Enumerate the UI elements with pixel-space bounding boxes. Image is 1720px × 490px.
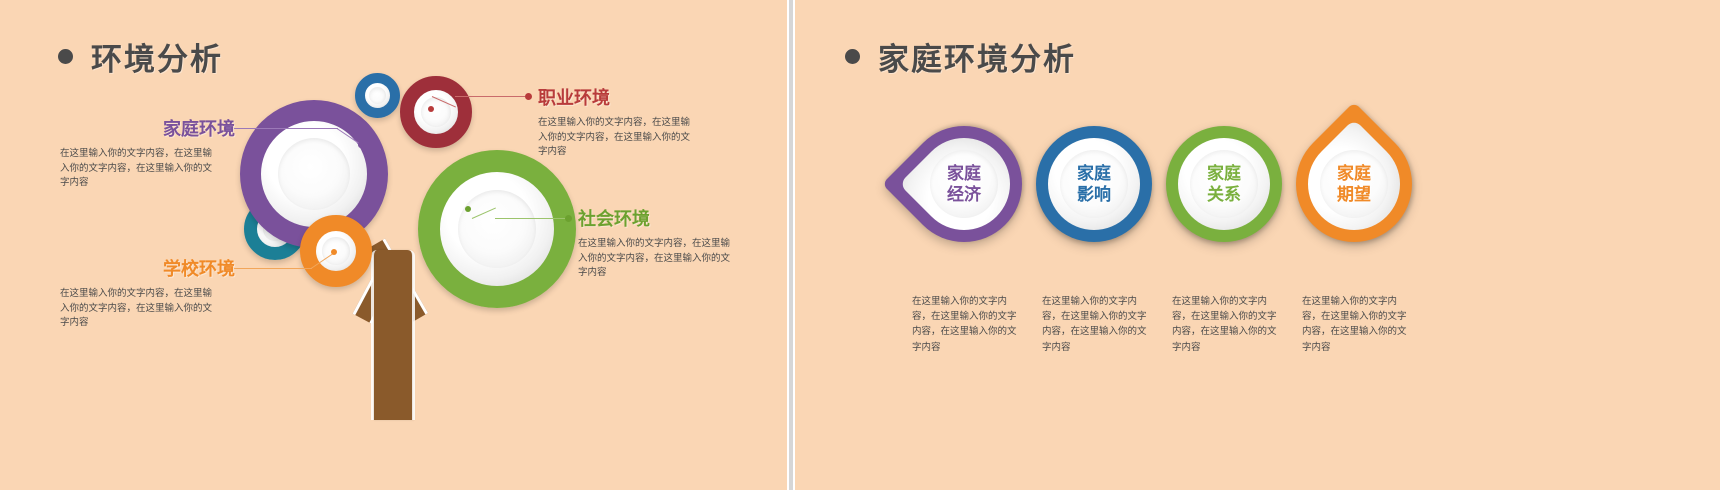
drop-shape-orange[interactable]: 家庭 期望 <box>1296 126 1412 242</box>
callout-body-career: 在这里输入你的文字内容，在这里输入你的文字内容，在这里输入你的文字内容 <box>538 116 693 160</box>
callout-title-family: 家庭环境 <box>60 115 235 141</box>
page-title: 家庭环境分析 <box>845 34 1076 79</box>
callout-career-environment[interactable]: 职业环境 在这里输入你的文字内容，在这里输入你的文字内容，在这里输入你的文字内容 <box>538 84 718 160</box>
connector-line-family <box>234 128 338 129</box>
callout-title-career: 职业环境 <box>538 84 718 110</box>
drop-body-text: 在这里输入你的文字内容，在这里输入你的文字内容，在这里输入你的文字内容 <box>1172 294 1280 355</box>
drop-label: 家庭 关系 <box>1207 163 1241 206</box>
drop-shape-green[interactable]: 家庭 关系 <box>1166 126 1282 242</box>
drop-label-line1: 家庭 <box>1337 164 1371 183</box>
slide-divider <box>787 0 795 490</box>
presentation-canvas: 环境分析 家庭环境 在这里输入你的文字内容，在这里输 <box>0 0 1720 490</box>
drop-shape-blue[interactable]: 家庭 影响 <box>1036 126 1152 242</box>
connector-dot-social <box>565 215 572 222</box>
drop-label-line2: 关系 <box>1207 185 1241 204</box>
callout-social-environment[interactable]: 社会环境 在这里输入你的文字内容，在这里输入你的文字内容，在这里输入你的文字内容 <box>578 205 758 281</box>
drop-label-line1: 家庭 <box>1207 164 1241 183</box>
drop-label: 家庭 经济 <box>947 163 981 206</box>
connector-anchor-school <box>331 249 337 255</box>
drop-item-family-influence[interactable]: 家庭 影响 在这里输入你的文字内容，在这里输入你的文字内容，在这里输入你的文字内… <box>1036 126 1152 242</box>
drop-item-family-relations[interactable]: 家庭 关系 在这里输入你的文字内容，在这里输入你的文字内容，在这里输入你的文字内… <box>1166 126 1282 242</box>
bullet-icon <box>845 49 860 64</box>
drop-body-text: 在这里输入你的文字内容，在这里输入你的文字内容，在这里输入你的文字内容 <box>1302 294 1410 355</box>
page-title-text: 环境分析 <box>91 34 223 79</box>
drop-item-family-expectation[interactable]: 家庭 期望 在这里输入你的文字内容，在这里输入你的文字内容，在这里输入你的文字内… <box>1296 126 1412 242</box>
drop-label-line1: 家庭 <box>1077 164 1111 183</box>
bullet-icon <box>58 49 73 64</box>
connector-line-career <box>455 96 525 97</box>
drop-label-line2: 经济 <box>947 185 981 204</box>
drop-body-text: 在这里输入你的文字内容，在这里输入你的文字内容，在这里输入你的文字内容 <box>1042 294 1150 355</box>
connector-anchor-career <box>428 106 434 112</box>
ring-dimple <box>369 87 386 104</box>
drop-label-line2: 影响 <box>1077 185 1111 204</box>
connector-line-school <box>234 268 312 269</box>
drop-item-family-economy[interactable]: 家庭 经济 在这里输入你的文字内容，在这里输入你的文字内容，在这里输入你的文字内… <box>906 126 1022 242</box>
callout-body-family: 在这里输入你的文字内容，在这里输入你的文字内容，在这里输入你的文字内容 <box>60 147 215 191</box>
slide-family-environment-analysis[interactable]: 家庭环境分析 <box>795 0 1720 490</box>
connector-line-social <box>495 218 565 219</box>
green-ring[interactable] <box>418 150 576 308</box>
blue-ring <box>355 73 400 118</box>
ring-dimple <box>458 190 536 268</box>
callout-title-school: 学校环境 <box>60 255 235 281</box>
drop-body-text: 在这里输入你的文字内容，在这里输入你的文字内容，在这里输入你的文字内容 <box>912 294 1020 355</box>
drop-label-line2: 期望 <box>1337 185 1371 204</box>
callout-body-social: 在这里输入你的文字内容，在这里输入你的文字内容，在这里输入你的文字内容 <box>578 237 733 281</box>
callout-school-environment[interactable]: 学校环境 在这里输入你的文字内容，在这里输入你的文字内容，在这里输入你的文字内容 <box>60 255 235 331</box>
red-ring[interactable] <box>400 76 472 148</box>
drop-label: 家庭 期望 <box>1337 163 1371 206</box>
connector-anchor-social <box>465 206 471 212</box>
page-title: 环境分析 <box>58 34 223 79</box>
connector-anchor-family <box>358 142 364 148</box>
connector-dot-career <box>525 93 532 100</box>
drop-label: 家庭 影响 <box>1077 163 1111 206</box>
callout-title-social: 社会环境 <box>578 205 758 231</box>
drop-label-line1: 家庭 <box>947 164 981 183</box>
page-title-text: 家庭环境分析 <box>878 34 1076 79</box>
ring-dimple <box>278 138 350 210</box>
tree-trunk <box>373 250 413 420</box>
drop-shape-purple[interactable]: 家庭 经济 <box>906 126 1022 242</box>
slide-environment-analysis[interactable]: 环境分析 家庭环境 在这里输入你的文字内容，在这里输 <box>0 0 787 490</box>
callout-body-school: 在这里输入你的文字内容，在这里输入你的文字内容，在这里输入你的文字内容 <box>60 287 215 331</box>
callout-family-environment[interactable]: 家庭环境 在这里输入你的文字内容，在这里输入你的文字内容，在这里输入你的文字内容 <box>60 115 235 191</box>
